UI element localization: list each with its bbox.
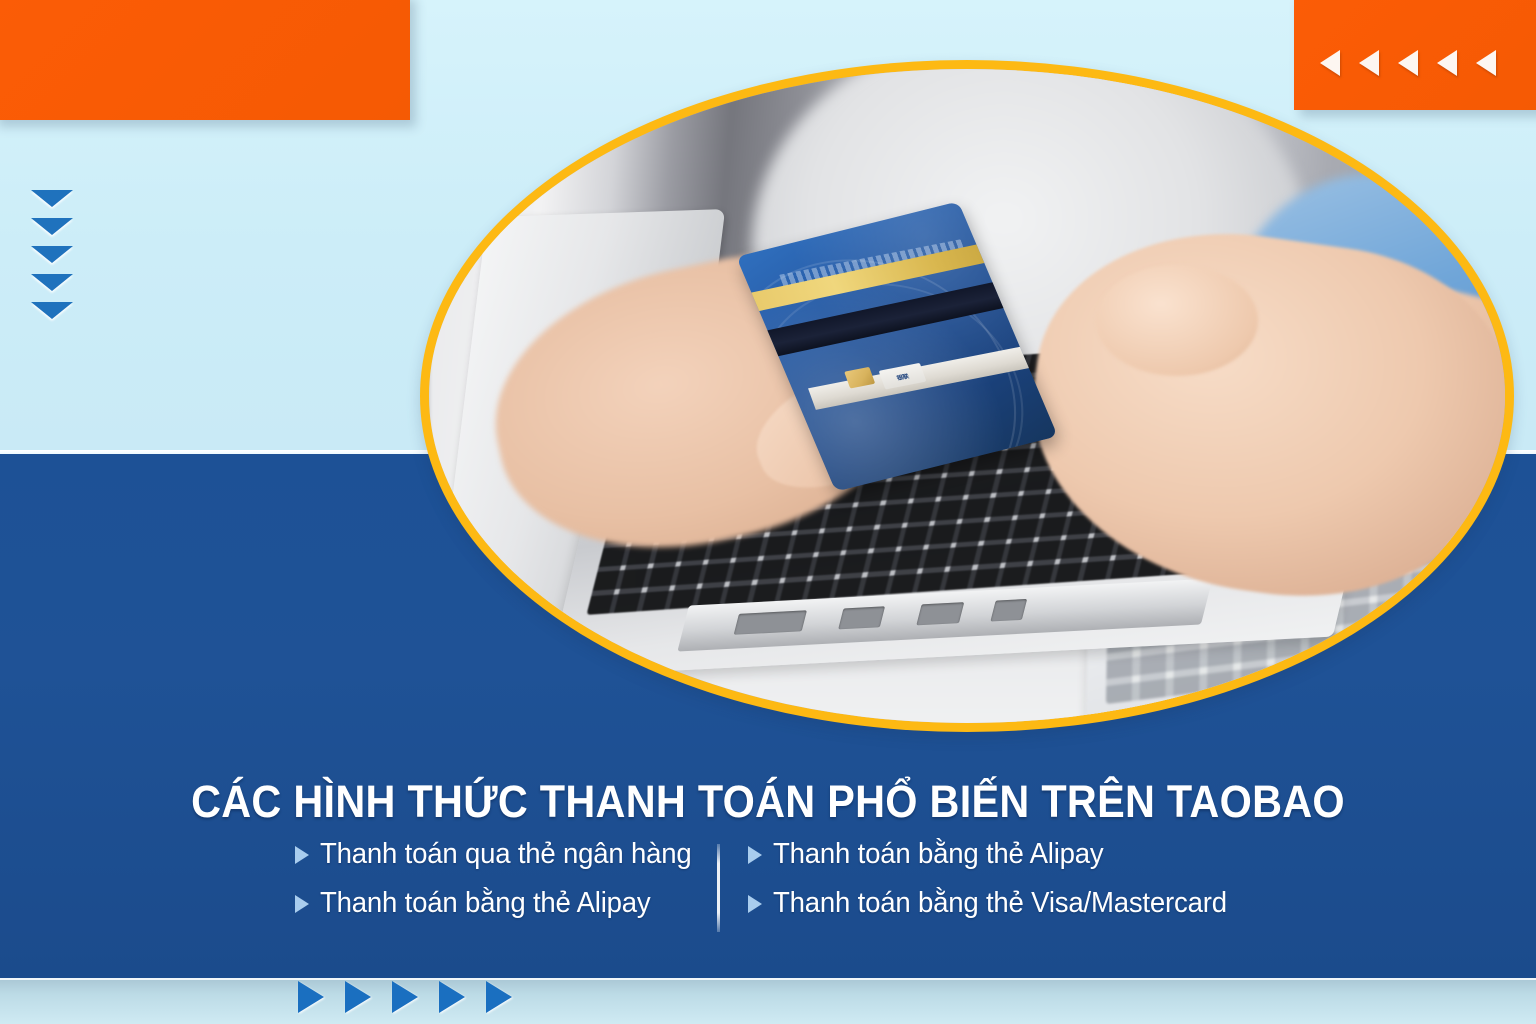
triangle-right-icon <box>392 981 418 1013</box>
laptop-port <box>917 603 964 626</box>
list-item[interactable]: Thanh toán bằng thẻ Alipay <box>295 887 717 920</box>
list-item-label: Thanh toán qua thẻ ngân hàng <box>320 838 692 871</box>
list-item-label: Thanh toán bằng thẻ Visa/Mastercard <box>773 887 1227 920</box>
list-item[interactable]: Thanh toán bằng thẻ Visa/Mastercard <box>748 887 1360 920</box>
list-item[interactable]: Thanh toán bằng thẻ Alipay <box>748 838 1360 871</box>
payment-methods-right-column: Thanh toán bằng thẻ Alipay Thanh toán bằ… <box>720 838 1360 920</box>
laptop-port <box>733 611 806 636</box>
list-item-label: Thanh toán bằng thẻ Alipay <box>320 887 651 920</box>
laptop-port <box>990 600 1027 623</box>
chevron-down-icon <box>31 218 73 235</box>
triangle-right-icon <box>439 981 465 1013</box>
background-bottom-band <box>0 978 1536 1024</box>
list-item-label: Thanh toán bằng thẻ Alipay <box>773 838 1104 871</box>
chevron-down-icon <box>31 302 73 319</box>
photo-thumb <box>1096 265 1257 376</box>
infographic-banner: 银联 CÁC HÌNH THỨC THANH TOÁN PHỔ BIẾN TRÊ… <box>0 0 1536 1024</box>
triangle-right-icon <box>295 846 309 864</box>
bottom-triangle-row <box>298 981 512 1013</box>
page-title: CÁC HÌNH THỨC THANH TOÁN PHỔ BIẾN TRÊN T… <box>61 776 1474 828</box>
triangle-right-icon <box>748 895 762 913</box>
chevron-down-icon <box>31 190 73 207</box>
triangle-right-icon <box>298 981 324 1013</box>
laptop-port <box>838 607 885 630</box>
orange-block-top-left <box>0 0 410 120</box>
photo-ellipse-frame: 银联 <box>420 60 1514 732</box>
payment-methods-left-column: Thanh toán qua thẻ ngân hàng Thanh toán … <box>177 838 717 920</box>
triangle-right-icon <box>295 895 309 913</box>
left-chevron-column <box>31 190 73 319</box>
photo-image: 银联 <box>429 69 1505 723</box>
payment-methods-lists: Thanh toán qua thẻ ngân hàng Thanh toán … <box>0 838 1536 932</box>
triangle-right-icon <box>748 846 762 864</box>
triangle-right-icon <box>345 981 371 1013</box>
triangle-right-icon <box>486 981 512 1013</box>
chevron-down-icon <box>31 274 73 291</box>
list-item[interactable]: Thanh toán qua thẻ ngân hàng <box>295 838 717 871</box>
chevron-down-icon <box>31 246 73 263</box>
